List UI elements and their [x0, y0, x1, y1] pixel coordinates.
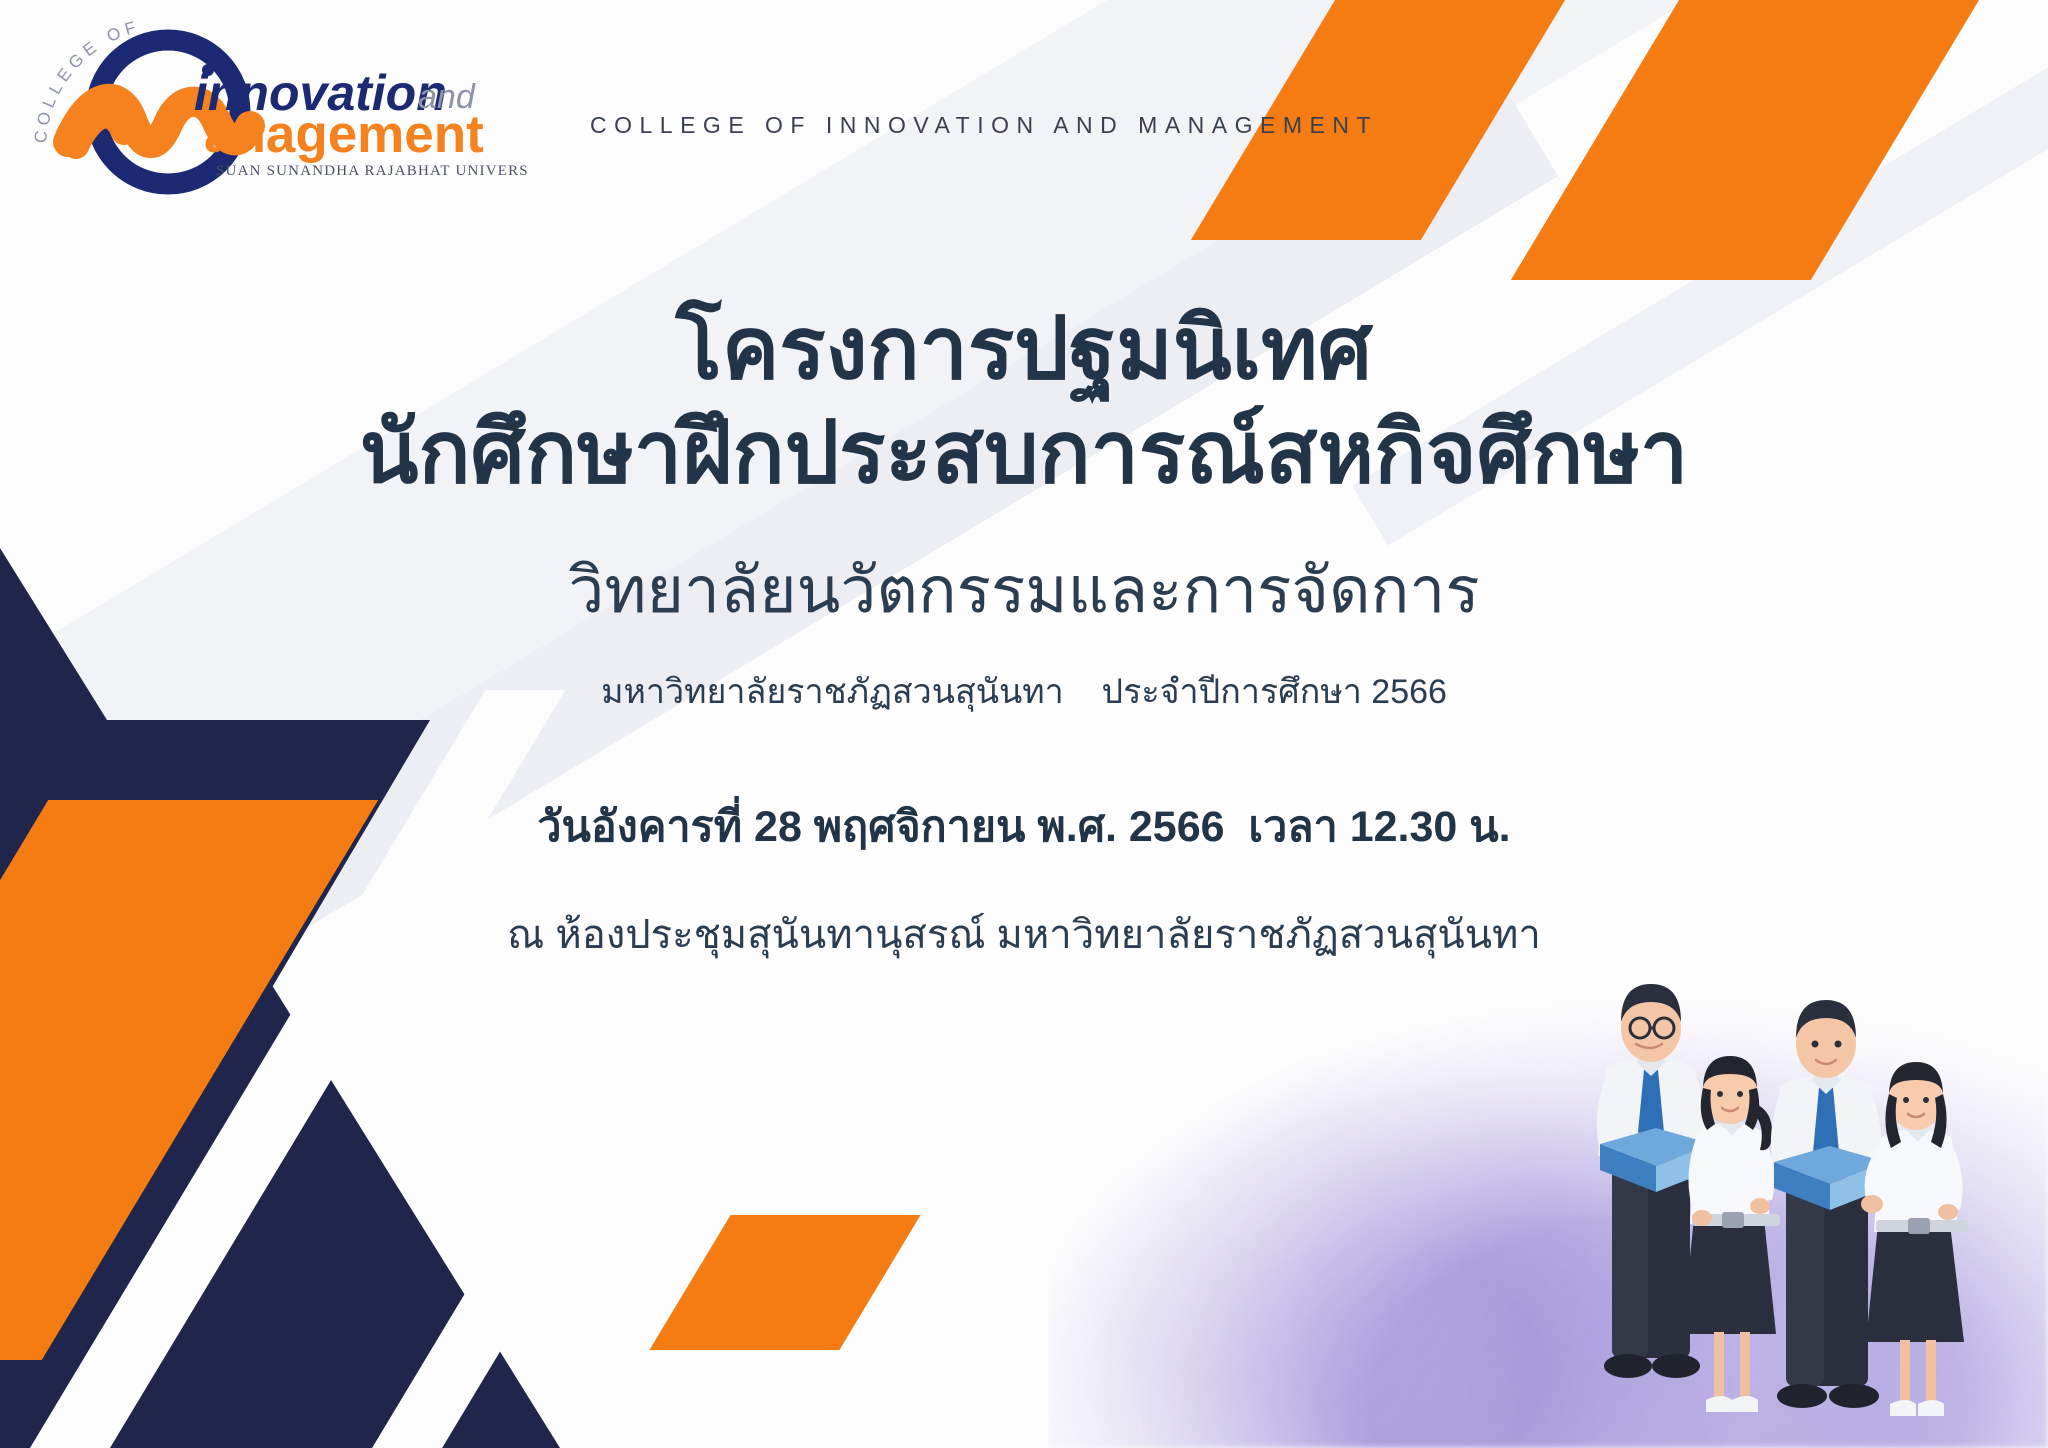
header-college-label: COLLEGE OF INNOVATION AND MANAGEMENT — [590, 112, 1378, 139]
orange-parallelogram-bottom-mid — [649, 1215, 920, 1350]
subtitle-college-name: วิทยาลัยนวัตกรรมและการจัดการ — [0, 554, 2048, 628]
poster-text-block: โครงการปฐมนิเทศ นักศึกษาฝึกประสบการณ์สหก… — [0, 300, 2048, 966]
college-logo: COLLEGE OF innovation and anagement SUAN… — [28, 12, 528, 202]
students-illustration — [1570, 918, 2000, 1448]
page-title-line-2: นักศึกษาฝึกประสบการณ์สหกิจศึกษา — [0, 404, 2048, 502]
poster-canvas: COLLEGE OF innovation and anagement SUAN… — [0, 0, 2048, 1448]
page-title-line-1: โครงการปฐมนิเทศ — [0, 300, 2048, 398]
svg-text:SUAN SUNANDHA RAJABHAT UNIV: SUAN SUNANDHA RAJABHAT UNIVERSITY — [216, 163, 528, 179]
orange-parallelogram-top-right — [1511, 0, 2048, 280]
white-slash-2 — [227, 930, 754, 1448]
university-and-academic-year: มหาวิทยาลัยราชภัฏสวนสุนันทา ประจำปีการศึ… — [0, 664, 2048, 718]
svg-text:anagement: anagement — [204, 105, 484, 164]
event-date-time: วันอังคารที่ 28 พฤศจิกายน พ.ศ. 2566 เวลา… — [0, 792, 2048, 860]
